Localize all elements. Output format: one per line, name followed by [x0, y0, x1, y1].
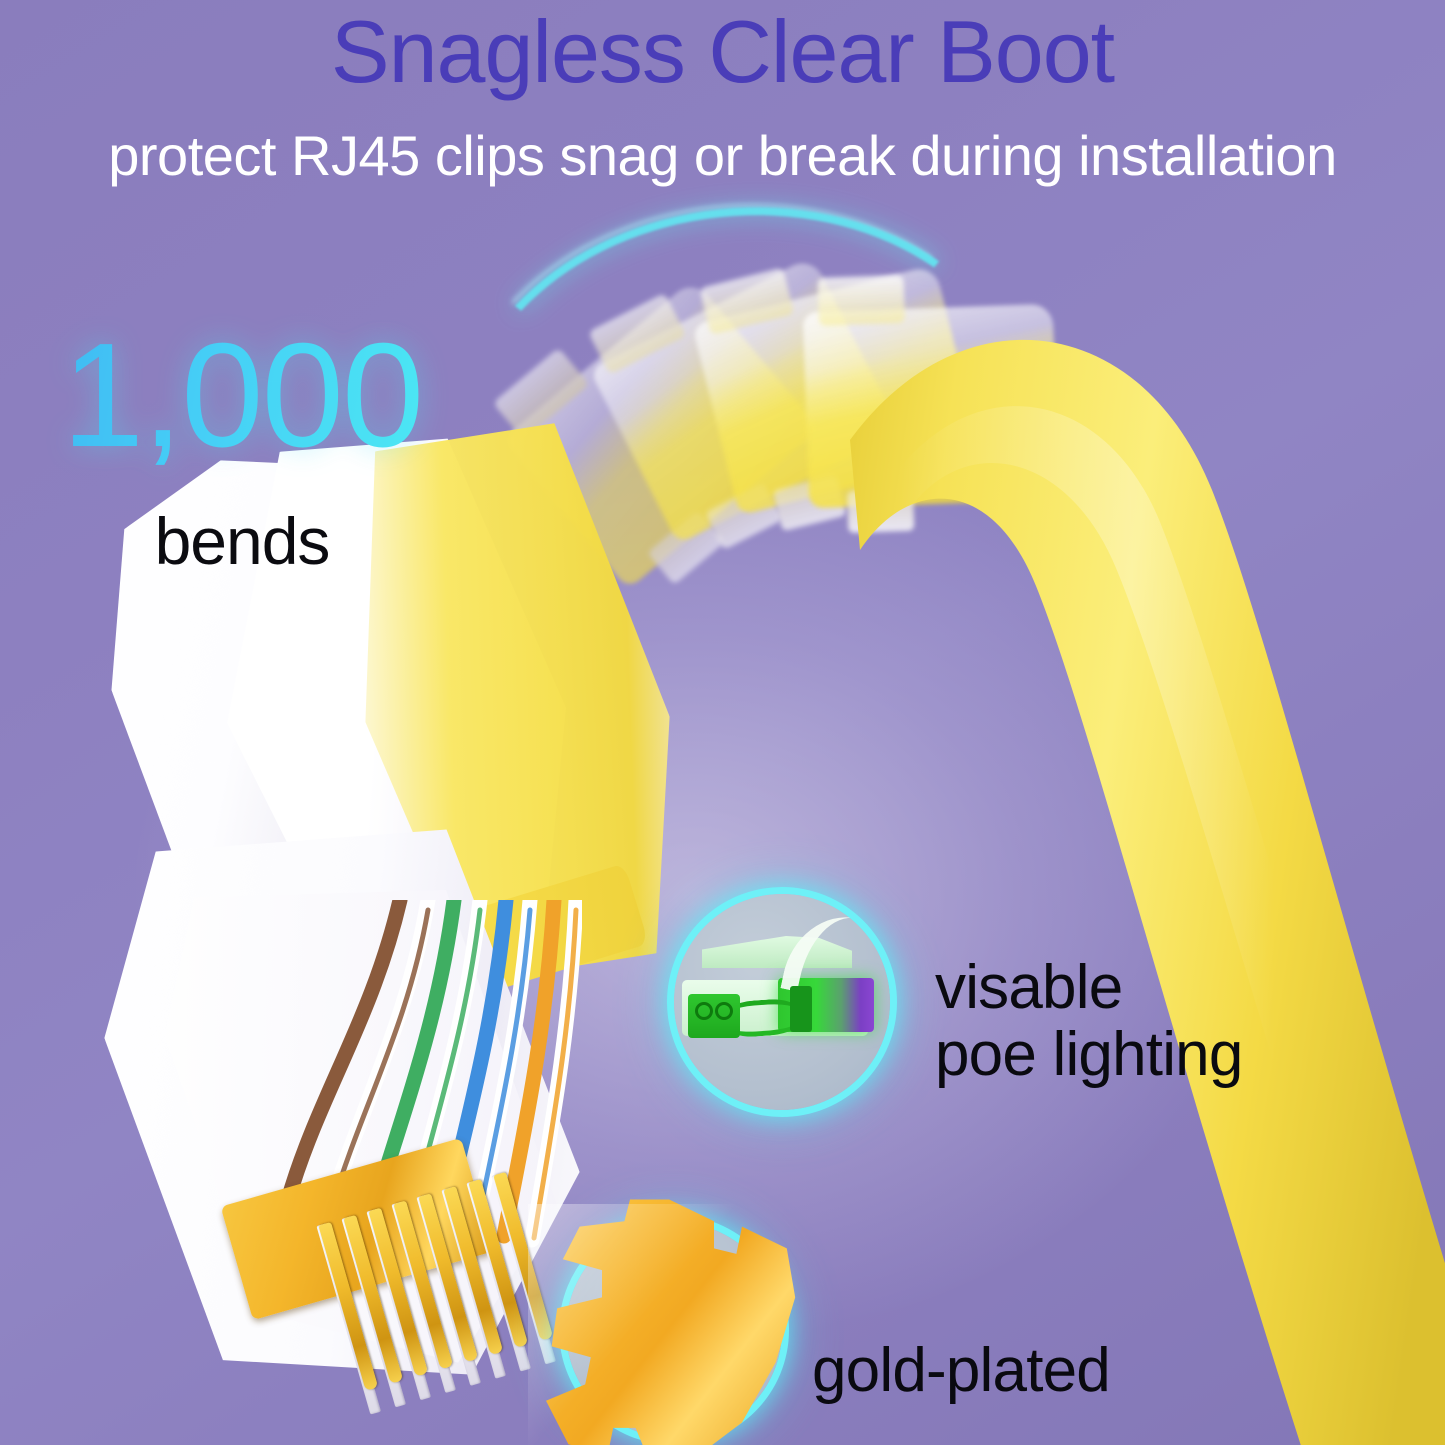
page-title: Snagless Clear Boot — [0, 8, 1445, 96]
bend-count-label: bends — [42, 508, 442, 574]
feature-label-gold-plated: gold-plated — [812, 1338, 1110, 1405]
feature-icon-poe-lighting — [674, 894, 890, 1110]
bend-count-value: 1,000 — [42, 322, 442, 470]
feature-label-line1: gold-plated — [812, 1338, 1110, 1405]
rj45-green-glow-icon — [674, 894, 890, 1110]
feature-label-line1: visable — [935, 955, 1243, 1022]
motion-ghost-boot — [803, 304, 1060, 509]
feature-label-line2: poe lighting — [935, 1022, 1243, 1089]
feature-icon-gold-plated — [566, 1222, 782, 1438]
feature-label-poe-lighting: visable poe lighting — [935, 955, 1243, 1089]
page-subtitle: protect RJ45 clips snag or break during … — [0, 128, 1445, 184]
product-feature-graphic: Snagless Clear Boot protect RJ45 clips s… — [0, 0, 1445, 1445]
